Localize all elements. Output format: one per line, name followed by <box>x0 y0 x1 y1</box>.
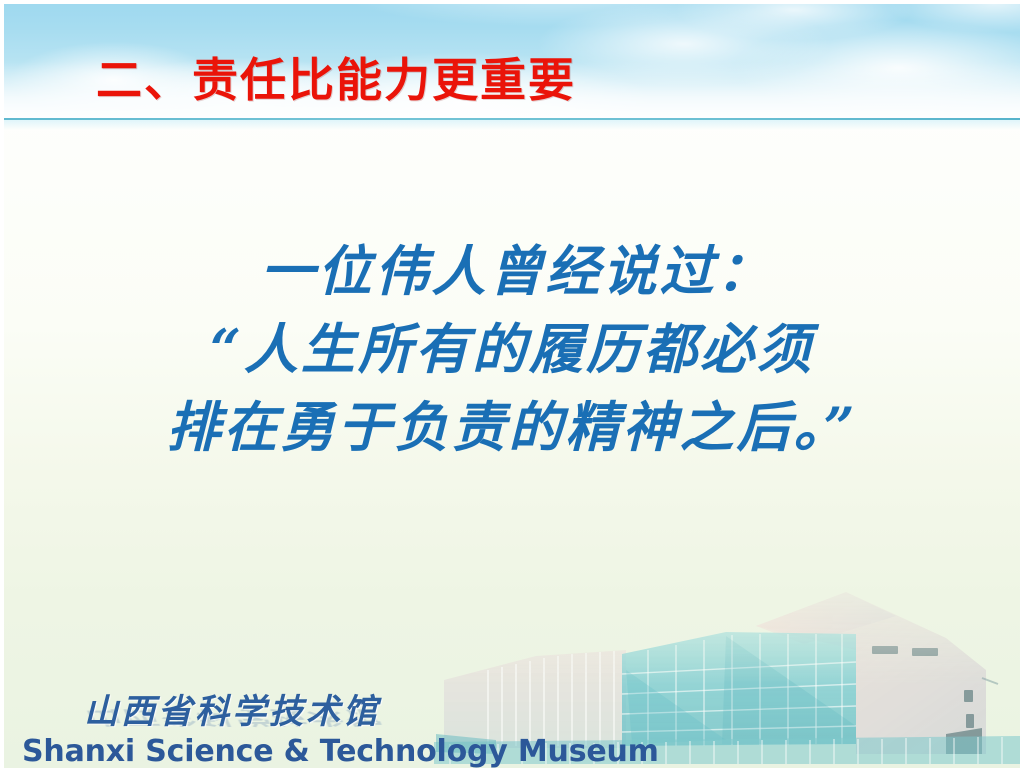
museum-logo-en: Shanxi Science & Technology Museum <box>22 735 659 768</box>
quote-block: 一位伟人曾经说过： “人生所有的履历都必须 排在勇于负责的精神之后。” <box>4 232 1020 466</box>
quote-line-1: 一位伟人曾经说过： <box>4 232 1020 310</box>
museum-logo-cn: 山西省科学技术馆 <box>84 692 380 732</box>
slide-canvas: 二、责任比能力更重要 一位伟人曾经说过： “人生所有的履历都必须 排在勇于负责的… <box>4 4 1020 768</box>
presentation-slide: 二、责任比能力更重要 一位伟人曾经说过： “人生所有的履历都必须 排在勇于负责的… <box>0 0 1024 768</box>
header-divider-glow <box>4 120 1020 130</box>
slide-title: 二、责任比能力更重要 <box>96 52 576 108</box>
quote-line-2: “人生所有的履历都必须 <box>4 310 1020 388</box>
quote-line-3: 排在勇于负责的精神之后。” <box>4 388 1020 466</box>
